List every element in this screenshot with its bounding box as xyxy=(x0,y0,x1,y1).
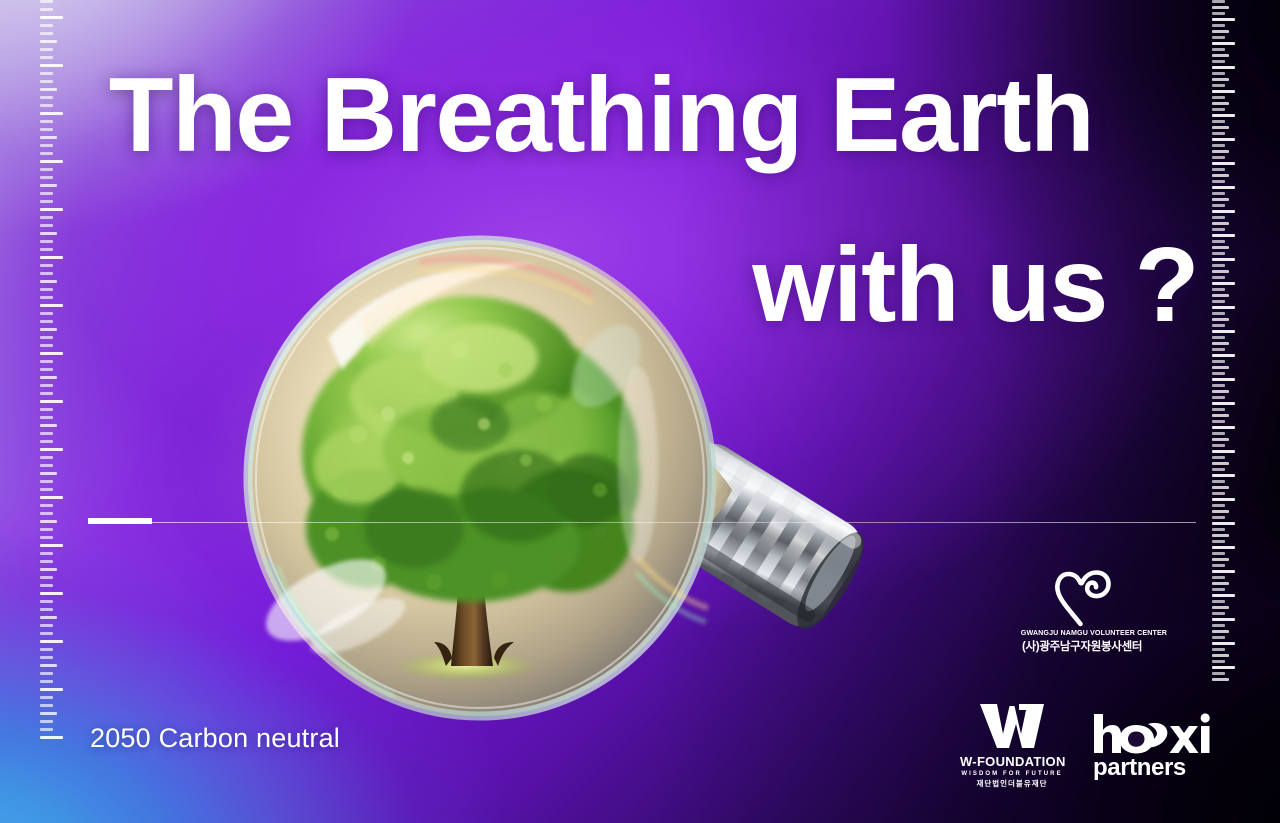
logo-hooxi-partners: partners xyxy=(1092,712,1212,782)
light-bulb-graphic xyxy=(208,228,898,738)
bulb-glass xyxy=(248,240,732,716)
hooxi-wordmark-icon xyxy=(1092,712,1210,756)
w-foundation-name: W-FOUNDATION xyxy=(960,754,1064,769)
volunteer-center-english: GWANGJU NAMGU VOLUNTEER CENTER xyxy=(1021,630,1143,637)
poster-canvas: The Breathing Earth with us ? 2050 Carbo… xyxy=(0,0,1280,823)
heart-icon xyxy=(1050,566,1114,628)
logo-w-foundation: W-FOUNDATION WISDOM FOR FUTURE 재단법인더블유재단 xyxy=(960,700,1064,789)
logo-gwangju-namgu-volunteer-center: GWANGJU NAMGU VOLUNTEER CENTER (사)광주남구자원… xyxy=(1022,566,1142,654)
w-foundation-korean: 재단법인더블유재단 xyxy=(960,778,1064,789)
w-icon xyxy=(976,700,1048,752)
hooxi-subtitle: partners xyxy=(1093,754,1212,782)
light-bulb-with-tree-image xyxy=(208,228,898,738)
tagline: 2050 Carbon neutral xyxy=(90,723,340,754)
w-foundation-subtitle: WISDOM FOR FUTURE xyxy=(960,771,1064,777)
volunteer-center-korean: (사)광주남구자원봉사센터 xyxy=(1022,638,1142,654)
